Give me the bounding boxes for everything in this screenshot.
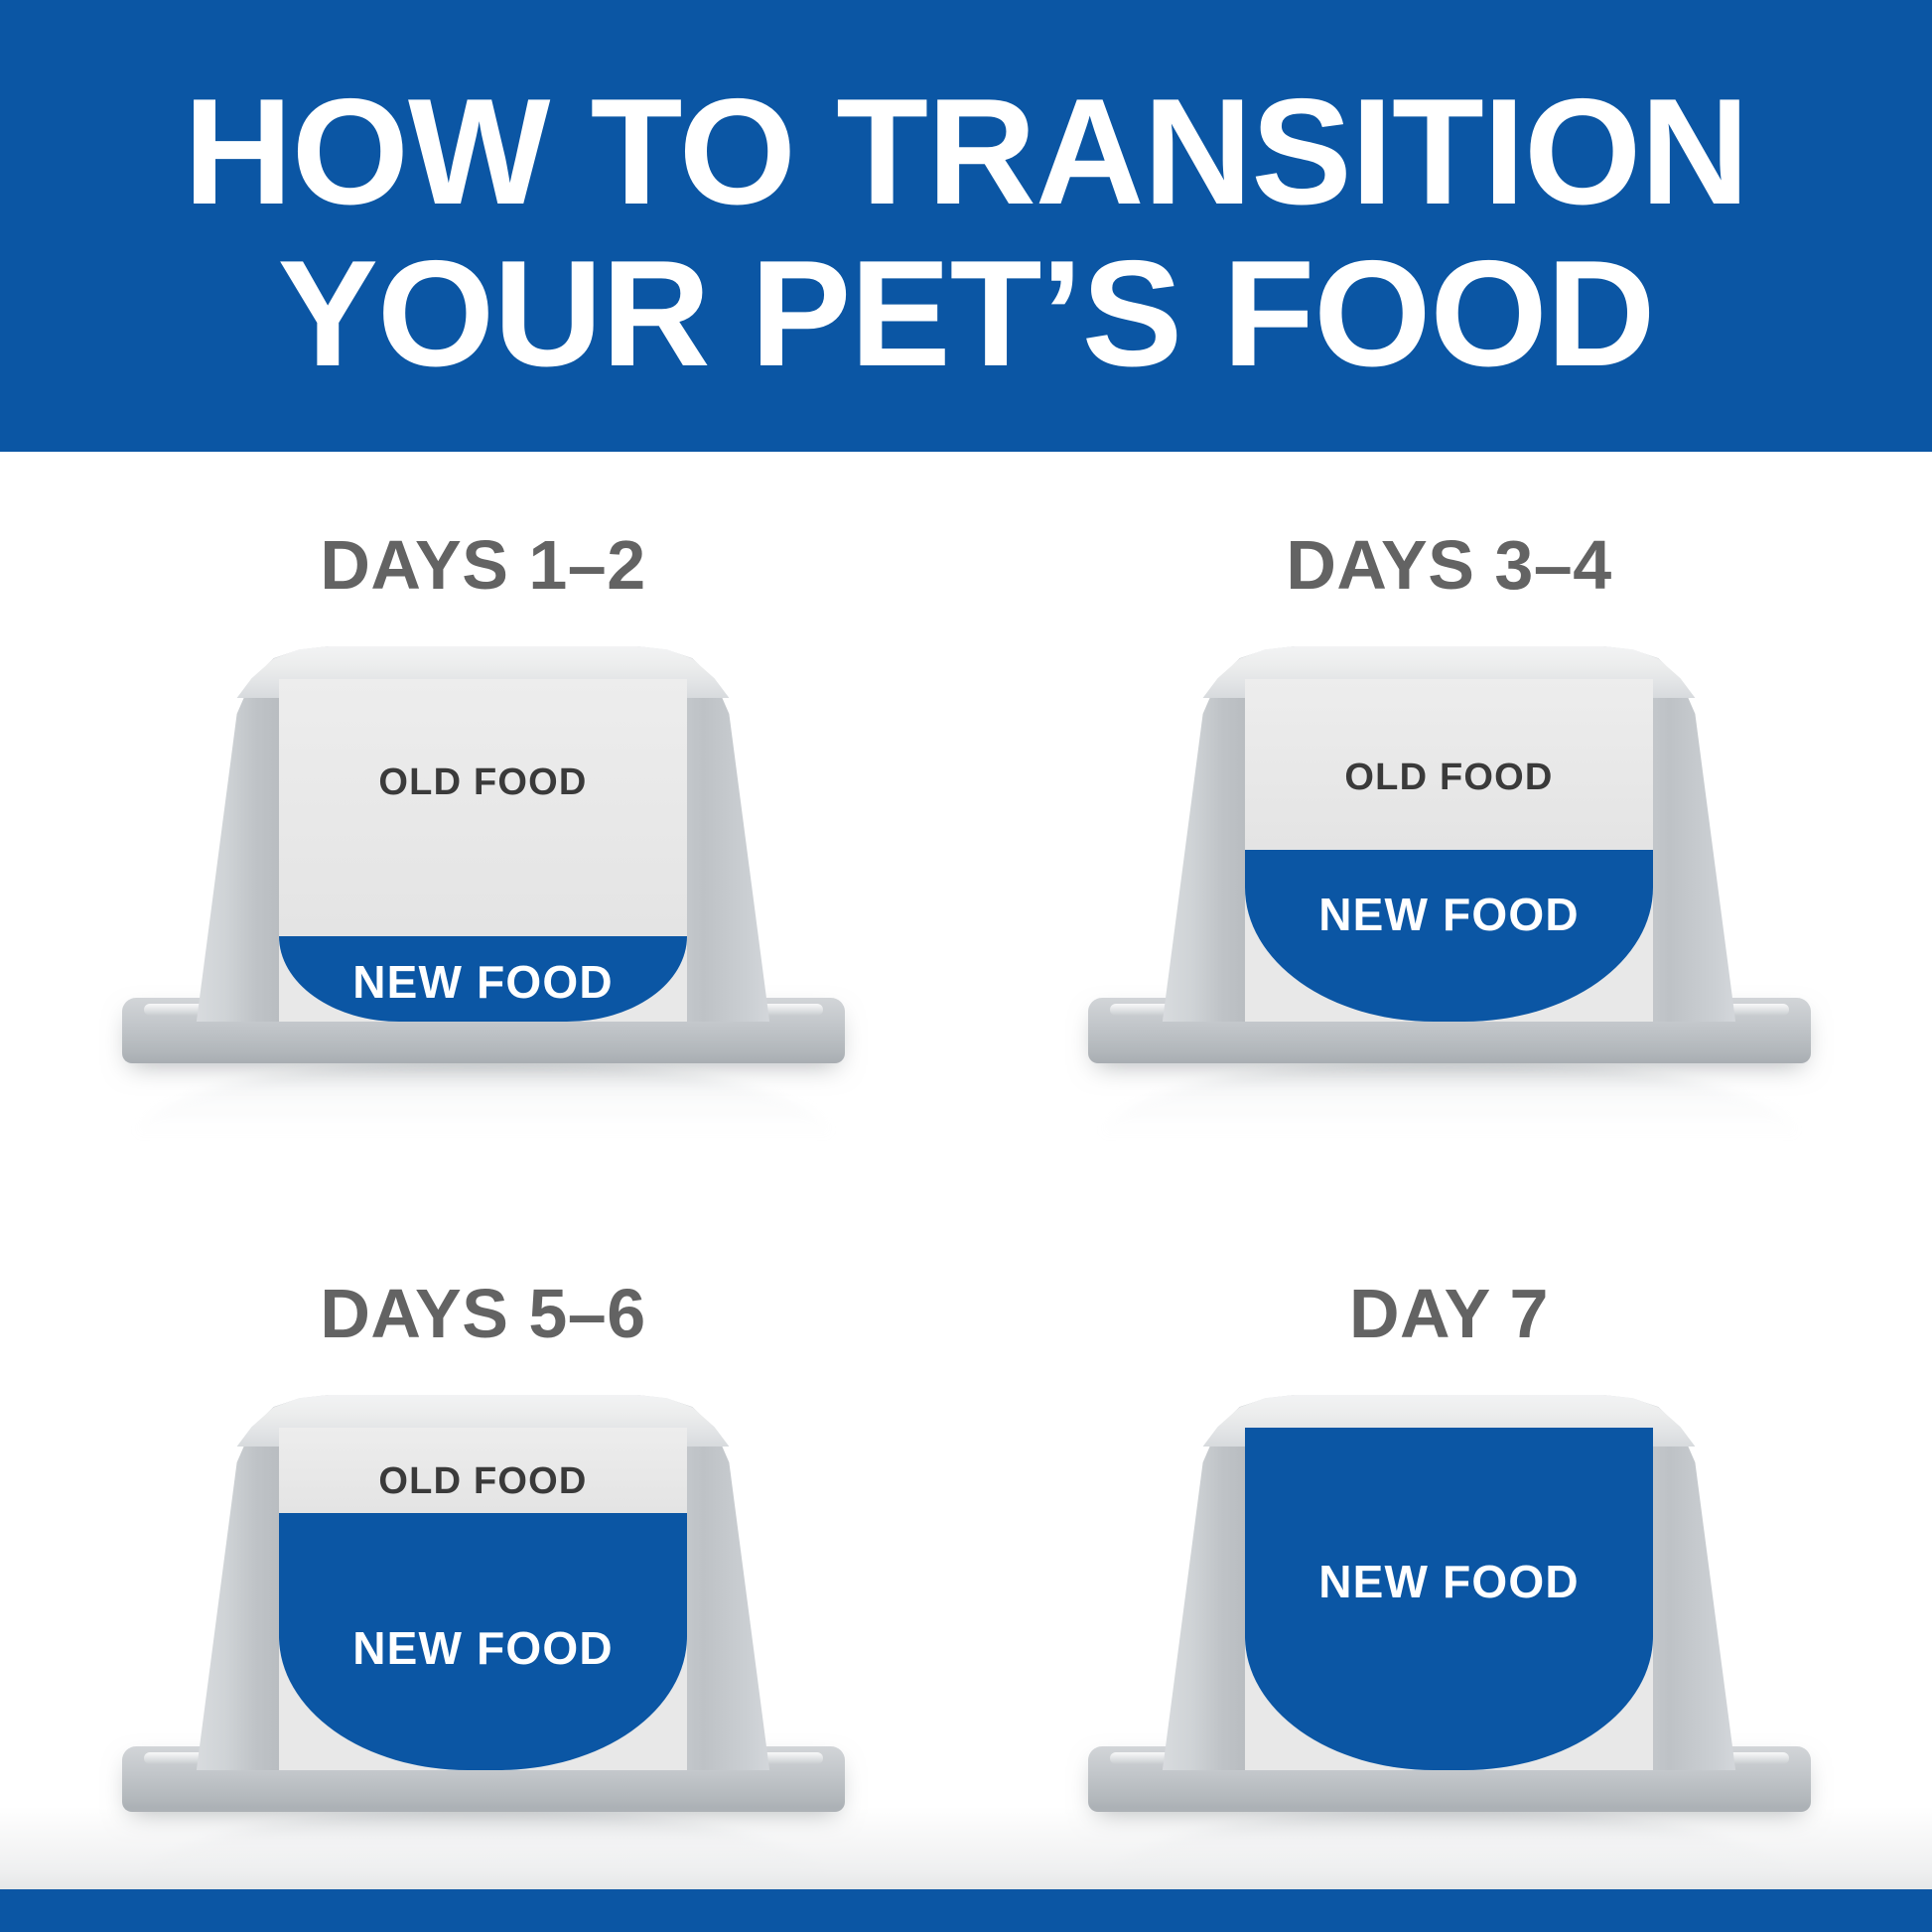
transition-stages-grid: DAYS 1–2 OLD FOOD NEW FOOD DAYS 3–4 [0, 452, 1932, 1889]
old-food-fill: OLD FOOD [279, 679, 687, 936]
header-banner: HOW TO TRANSITION YOUR PET’S FOOD [0, 0, 1932, 452]
bowl-reflection [1102, 1059, 1797, 1137]
food-bowl-day-7: NEW FOOD [1082, 1395, 1817, 1812]
bowl-body: OLD FOOD NEW FOOD [116, 646, 851, 1022]
footer-bar [0, 1889, 1932, 1932]
food-bowl-days-5-6: OLD FOOD NEW FOOD [116, 1395, 851, 1812]
stage-label: DAYS 1–2 [0, 525, 966, 605]
old-food-fill: OLD FOOD [1245, 679, 1653, 851]
new-food-label: NEW FOOD [279, 955, 687, 1009]
new-food-fill: NEW FOOD [1245, 850, 1653, 1022]
bowl-reflection [136, 1808, 831, 1885]
food-bowl-days-1-2: OLD FOOD NEW FOOD [116, 646, 851, 1063]
new-food-label: NEW FOOD [279, 1621, 687, 1675]
bowl-reflection [1102, 1808, 1797, 1885]
stage-label: DAYS 5–6 [0, 1274, 966, 1353]
stage-label: DAYS 3–4 [966, 525, 1932, 605]
new-food-fill: NEW FOOD [1245, 1428, 1653, 1770]
food-window: OLD FOOD NEW FOOD [1245, 679, 1653, 1022]
food-window: OLD FOOD NEW FOOD [279, 1428, 687, 1770]
new-food-label: NEW FOOD [1245, 888, 1653, 941]
old-food-label: OLD FOOD [279, 1460, 687, 1503]
page-title: HOW TO TRANSITION YOUR PET’S FOOD [122, 58, 1810, 394]
stage-label: DAY 7 [966, 1274, 1932, 1353]
bowl-body: OLD FOOD NEW FOOD [116, 1395, 851, 1770]
bowl-body: NEW FOOD [1082, 1395, 1817, 1770]
old-food-fill: OLD FOOD [279, 1428, 687, 1513]
new-food-fill: NEW FOOD [279, 1513, 687, 1770]
new-food-fill: NEW FOOD [279, 936, 687, 1022]
bowl-reflection [136, 1059, 831, 1137]
stage-card-days-3-4: DAYS 3–4 OLD FOOD NEW FOOD [966, 452, 1932, 1171]
bowl-body: OLD FOOD NEW FOOD [1082, 646, 1817, 1022]
food-window: NEW FOOD [1245, 1428, 1653, 1770]
food-window: OLD FOOD NEW FOOD [279, 679, 687, 1022]
stage-card-days-5-6: DAYS 5–6 OLD FOOD NEW FOOD [0, 1171, 966, 1889]
new-food-label: NEW FOOD [1245, 1555, 1653, 1608]
old-food-label: OLD FOOD [279, 761, 687, 804]
old-food-label: OLD FOOD [1245, 757, 1653, 799]
stage-card-day-7: DAY 7 NEW FOOD [966, 1171, 1932, 1889]
food-bowl-days-3-4: OLD FOOD NEW FOOD [1082, 646, 1817, 1063]
stage-card-days-1-2: DAYS 1–2 OLD FOOD NEW FOOD [0, 452, 966, 1171]
